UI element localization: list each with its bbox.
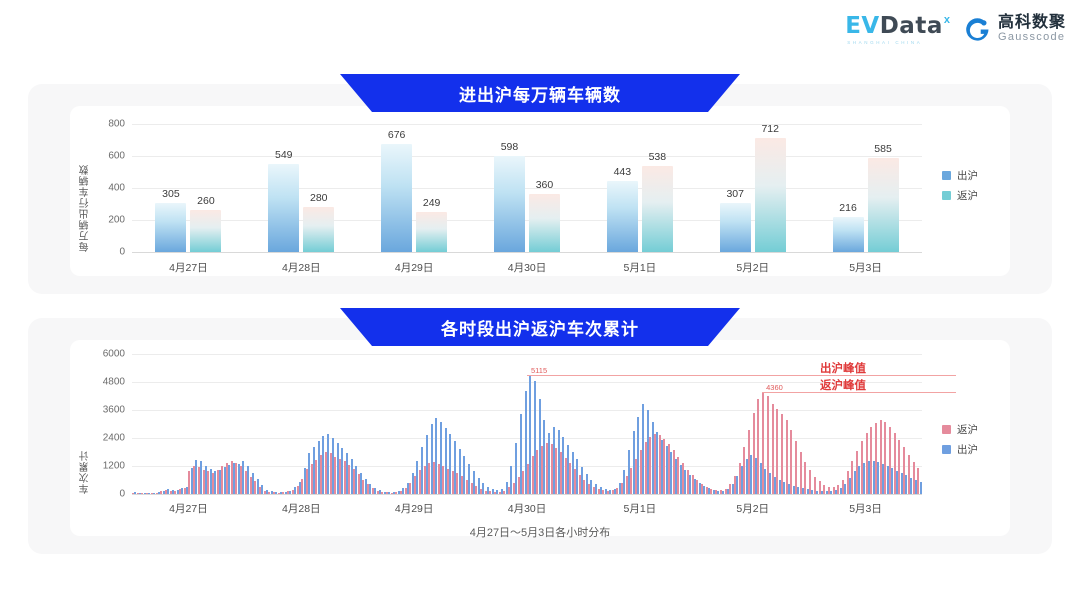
chart-top-bar-group: 676249	[358, 124, 471, 252]
chart-bottom-peak-label: 返沪峰值	[820, 377, 866, 393]
chart-top-bar[interactable]: 360	[529, 194, 560, 252]
evdata-logo-subtitle: SHANGHAI CHINA	[845, 40, 922, 45]
chart-bottom-gridline	[132, 382, 922, 383]
chart-bottom-bar-return[interactable]	[790, 430, 792, 494]
chart-top-bar[interactable]: 538	[642, 166, 673, 252]
chart-bottom-legend-label: 出沪	[957, 442, 978, 457]
chart-top-bar[interactable]: 249	[416, 212, 447, 252]
card-bottom-chart: 车次累计 0120024003600480060005115出沪峰值4360返沪…	[70, 340, 1010, 536]
chart-bottom-xtick: 4月28日	[282, 501, 321, 516]
chart-top-bar-group: 549280	[245, 124, 358, 252]
gausscode-mark-icon	[964, 16, 991, 43]
evdata-logo: EVData x SHANGHAI CHINA	[845, 13, 950, 45]
chart-top-bar[interactable]: 549	[268, 164, 299, 252]
chart-top-xtick: 4月27日	[169, 260, 208, 275]
chart-top-axis-line	[132, 252, 922, 253]
chart-top-bar-value: 249	[423, 197, 441, 209]
chart-top-bar-value: 549	[275, 149, 293, 161]
legend-swatch-icon	[942, 445, 951, 454]
chart-top-bar[interactable]: 260	[190, 210, 221, 252]
evdata-x-icon: x	[944, 14, 950, 26]
ribbon-title-top-text: 进出沪每万辆车辆数	[459, 81, 621, 106]
chart-bottom-xtick: 5月3日	[849, 501, 882, 516]
chart-top-xtick: 4月30日	[508, 260, 547, 275]
chart-top-xtick: 5月1日	[624, 260, 657, 275]
chart-bottom-xlabel: 4月27日～5月3日各小时分布	[70, 524, 1010, 540]
chart-top-bar-value: 598	[501, 141, 519, 153]
chart-top-bar-value: 307	[726, 188, 744, 200]
chart-top-bar[interactable]: 676	[381, 144, 412, 252]
chart-bottom-gridline	[132, 410, 922, 411]
chart-bottom-peak-value: 4360	[766, 383, 783, 392]
chart-bottom-gridline	[132, 354, 922, 355]
chart-bottom-ytick: 3600	[103, 405, 125, 416]
legend-swatch-icon	[942, 191, 951, 200]
chart-top-ytick: 400	[108, 183, 125, 194]
evdata-logo-data-text: Data	[880, 13, 943, 39]
chart-top-legend-label: 返沪	[957, 188, 978, 203]
chart-bottom-xtick: 4月30日	[508, 501, 547, 516]
chart-top-bar-group: 216585	[809, 124, 922, 252]
chart-top-bar-value: 260	[197, 195, 215, 207]
chart-top-legend-item[interactable]: 出沪	[942, 168, 978, 183]
chart-top-plot-area: 02004006008003052604月27日5492804月28日67624…	[132, 124, 922, 252]
chart-bottom-xtick: 4月29日	[395, 501, 434, 516]
chart-bottom-ytick: 6000	[103, 349, 125, 360]
chart-top-ylabel: 每万辆出行车辆数	[78, 124, 93, 252]
gausscode-logo-en: Gausscode	[998, 32, 1066, 43]
chart-bottom-bar-return[interactable]	[786, 420, 788, 494]
chart-bottom-peak-value: 5115	[531, 366, 547, 375]
chart-bottom-xtick: 5月2日	[736, 501, 769, 516]
chart-top-bar-value: 712	[761, 123, 779, 135]
chart-bottom-xtick: 4月27日	[169, 501, 208, 516]
gausscode-logo-cn: 高科数聚	[998, 15, 1066, 32]
chart-bottom-ytick: 0	[119, 489, 125, 500]
chart-top-bar-group: 598360	[471, 124, 584, 252]
chart-top-bar[interactable]: 280	[303, 207, 334, 252]
chart-bottom-ytick: 2400	[103, 433, 125, 444]
chart-top-bar-value: 216	[839, 202, 857, 214]
panel-hourly-cumulative: 各时段出沪返沪车次累计 车次累计 01200240036004800600051…	[28, 318, 1052, 554]
chart-top-bar-group: 443538	[583, 124, 696, 252]
gausscode-logo: 高科数聚 Gausscode	[964, 15, 1066, 43]
chart-top-bar-value: 280	[310, 192, 328, 204]
panel-vehicles-per-10k: 进出沪每万辆车辆数 每万辆出行车辆数 02004006008003052604月…	[28, 84, 1052, 294]
chart-top-bar-group: 307712	[696, 124, 809, 252]
legend-swatch-icon	[942, 171, 951, 180]
chart-bottom-peak-line	[527, 375, 956, 376]
chart-bottom-legend-item[interactable]: 返沪	[942, 422, 978, 437]
chart-top-ytick: 0	[119, 247, 125, 258]
chart-top-bar-value: 585	[874, 143, 892, 155]
logo-group: EVData x SHANGHAI CHINA 高科数聚 Gausscode	[845, 13, 1066, 45]
chart-bottom-plot-area: 0120024003600480060005115出沪峰值4360返沪峰值4月2…	[132, 354, 922, 494]
chart-bottom-gridline	[132, 438, 922, 439]
chart-top-bar[interactable]: 443	[607, 181, 638, 252]
chart-bottom-ytick: 1200	[103, 461, 125, 472]
chart-bottom-xtick: 5月1日	[624, 501, 657, 516]
ribbon-title-bottom-text: 各时段出沪返沪车次累计	[441, 315, 639, 340]
chart-top-bar[interactable]: 585	[868, 158, 899, 252]
chart-top-legend-label: 出沪	[957, 168, 978, 183]
chart-top-bar-value: 676	[388, 129, 406, 141]
chart-top-ytick: 800	[108, 119, 125, 130]
chart-top-bar[interactable]: 305	[155, 203, 186, 252]
chart-top-legend: 出沪返沪	[942, 168, 978, 208]
chart-top-xtick: 4月29日	[395, 260, 434, 275]
page-header: EVData x SHANGHAI CHINA 高科数聚 Gausscode	[0, 0, 1080, 62]
chart-top-bar[interactable]: 307	[720, 203, 751, 252]
chart-top-legend-item[interactable]: 返沪	[942, 188, 978, 203]
chart-top-ytick: 200	[108, 215, 125, 226]
ribbon-title-bottom: 各时段出沪返沪车次累计	[340, 308, 740, 346]
card-top-chart: 每万辆出行车辆数 02004006008003052604月27日5492804…	[70, 106, 1010, 276]
chart-top-bar[interactable]: 712	[755, 138, 786, 252]
evdata-logo-ev-text: EV	[845, 13, 880, 39]
chart-top-xtick: 5月3日	[849, 260, 882, 275]
chart-top-bar-value: 305	[162, 188, 180, 200]
ribbon-title-top: 进出沪每万辆车辆数	[340, 74, 740, 112]
chart-top-bar[interactable]: 598	[494, 156, 525, 252]
chart-top-bar-group: 305260	[132, 124, 245, 252]
dashboard-page: EVData x SHANGHAI CHINA 高科数聚 Gausscode	[0, 0, 1080, 608]
chart-top-bar-value: 538	[649, 151, 667, 163]
chart-bottom-axis-line	[132, 494, 922, 495]
chart-bottom-peak-label: 出沪峰值	[820, 360, 866, 376]
chart-top-bar-value: 443	[614, 166, 632, 178]
chart-top-ytick: 600	[108, 151, 125, 162]
chart-top-xtick: 5月2日	[736, 260, 769, 275]
chart-bottom-legend: 返沪出沪	[942, 422, 978, 462]
chart-bottom-bar-depart[interactable]	[920, 482, 922, 494]
chart-bottom-ytick: 4800	[103, 377, 125, 388]
legend-swatch-icon	[942, 425, 951, 434]
chart-top-bar-value: 360	[536, 179, 554, 191]
chart-top-xtick: 4月28日	[282, 260, 321, 275]
chart-top-bar[interactable]: 216	[833, 217, 864, 252]
chart-bottom-legend-label: 返沪	[957, 422, 978, 437]
chart-bottom-ylabel: 车次累计	[78, 354, 93, 494]
chart-bottom-legend-item[interactable]: 出沪	[942, 442, 978, 457]
gausscode-logo-text: 高科数聚 Gausscode	[998, 15, 1066, 43]
evdata-logo-main: EVData x	[845, 13, 950, 39]
